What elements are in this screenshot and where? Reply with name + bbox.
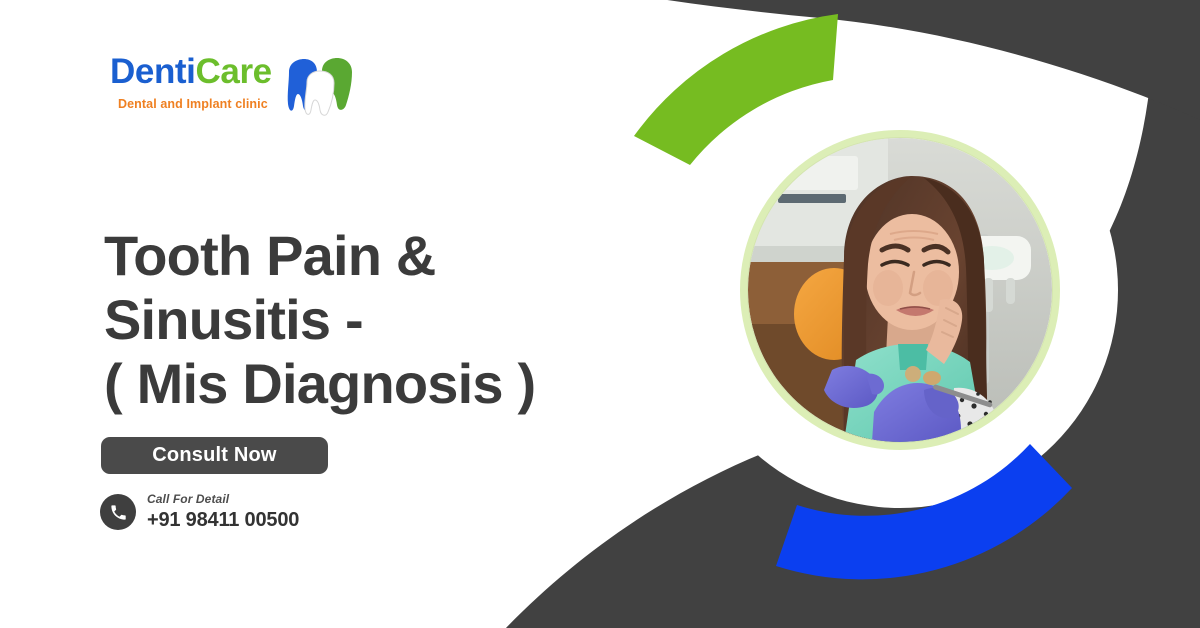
hero-photo-illustration — [748, 138, 1052, 442]
logo-tagline: Dental and Implant clinic — [118, 97, 268, 111]
promo-banner: DentiCare Dental and Implant clinic Toot… — [0, 0, 1200, 628]
phone-number[interactable]: +91 98411 00500 — [147, 508, 299, 532]
green-arc — [634, 14, 838, 165]
phone-icon[interactable] — [100, 494, 136, 530]
hero-photo — [748, 138, 1052, 442]
tooth-pair-icon — [286, 58, 356, 116]
contact-text: Call For Detail +91 98411 00500 — [147, 492, 299, 532]
brand-logo[interactable]: DentiCare Dental and Implant clinic — [110, 52, 360, 122]
phone-handset-glyph — [109, 503, 128, 522]
headline-line-1: Tooth Pain & — [104, 224, 664, 288]
logo-word-care: Care — [196, 52, 272, 91]
logo-wordmark: DentiCare — [110, 52, 272, 92]
call-for-detail-label: Call For Detail — [147, 492, 299, 507]
headline-line-3: ( Mis Diagnosis ) — [104, 352, 664, 416]
page-title: Tooth Pain & Sinusitis - ( Mis Diagnosis… — [104, 224, 664, 416]
logo-word-denti: Denti — [110, 52, 196, 91]
consult-now-button[interactable]: Consult Now — [101, 437, 328, 474]
headline-line-2: Sinusitis - — [104, 288, 664, 352]
blue-arc — [776, 444, 1072, 579]
contact-block[interactable]: Call For Detail +91 98411 00500 — [100, 492, 299, 532]
